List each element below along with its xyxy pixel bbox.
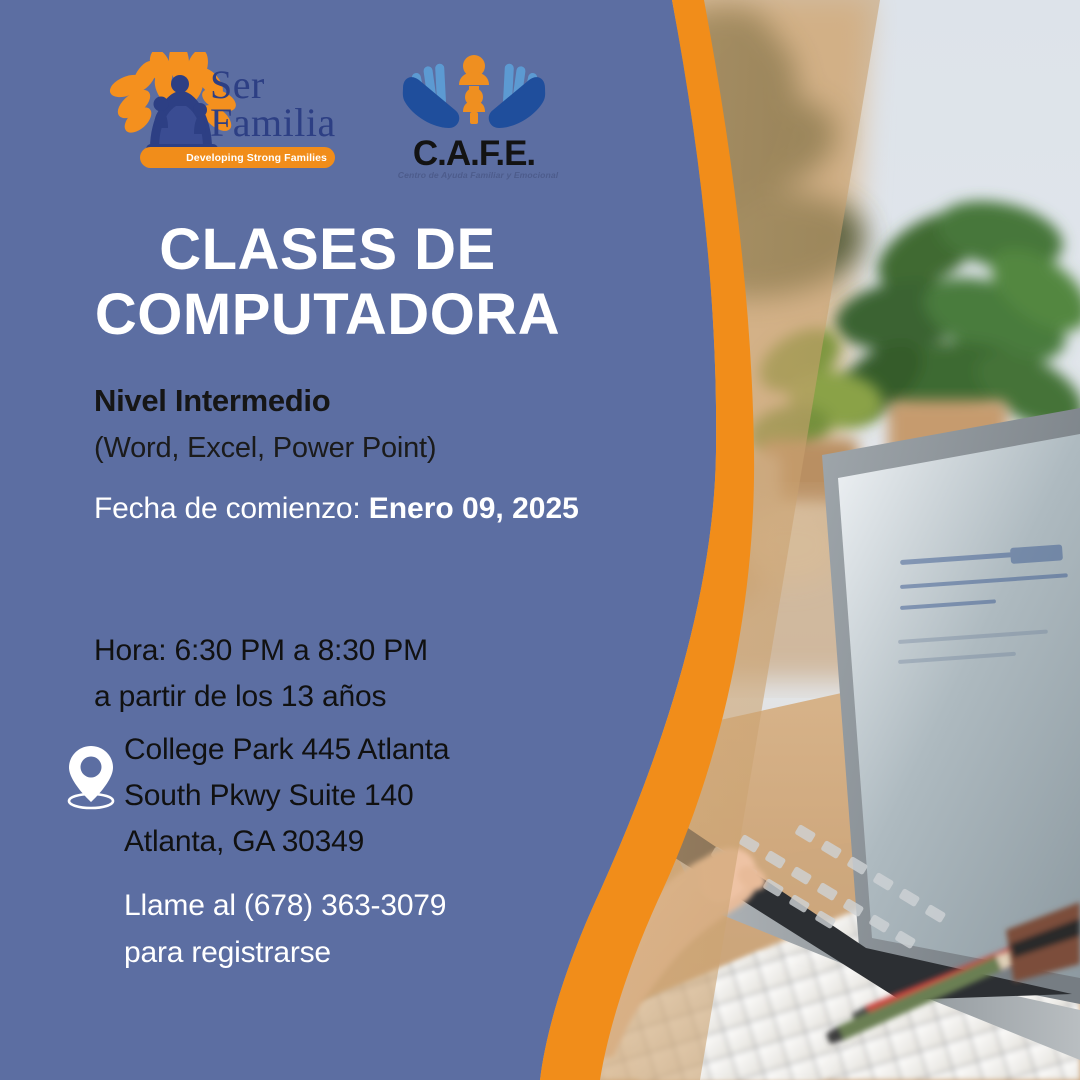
start-date-label: Fecha de comienzo: — [94, 492, 361, 525]
address-line-1: College Park 445 Atlanta — [124, 727, 449, 773]
poster-canvas: Ser Familia Developing Strong Families — [0, 0, 1080, 1080]
contact-phone: Llame al (678) 363-3079 — [124, 883, 446, 930]
address-line-2: South Pkwy Suite 140 — [124, 773, 449, 819]
address-line-3: Atlanta, GA 30349 — [124, 819, 449, 865]
headline-line-2: COMPUTADORA — [0, 283, 655, 348]
contact-block: Llame al (678) 363-3079 para registrarse — [124, 883, 446, 976]
ser-familia-logo: Ser Familia Developing Strong Families — [104, 52, 339, 172]
ser-familia-word-line1: Ser — [210, 66, 336, 104]
ser-familia-word-line2: Familia — [210, 104, 336, 142]
cafe-subtitle: Centro de Ayuda Familiar y Emocional — [389, 170, 567, 180]
ser-familia-tagline: Developing Strong Families — [140, 147, 335, 168]
age-requirement: a partir de los 13 años — [94, 674, 428, 720]
class-time: Hora: 6:30 PM a 8:30 PM — [94, 628, 428, 674]
hands-cradling-icon — [389, 52, 559, 134]
cafe-acronym: C.A.F.E. — [389, 134, 559, 174]
start-date-line: Fecha de comienzo: Enero 09, 2025 — [94, 492, 579, 526]
schedule-block: Hora: 6:30 PM a 8:30 PM a partir de los … — [94, 628, 428, 719]
course-level: Nivel Intermedio — [94, 383, 330, 419]
ser-familia-wordmark: Ser Familia — [210, 66, 336, 143]
page-title: CLASES DE COMPUTADORA — [0, 218, 655, 348]
map-pin-icon — [60, 742, 122, 810]
cafe-logo: C.A.F.E. Centro de Ayuda Familiar y Emoc… — [389, 52, 559, 187]
headline-line-1: CLASES DE — [0, 218, 655, 283]
course-apps: (Word, Excel, Power Point) — [94, 432, 436, 465]
start-date-value: Enero 09, 2025 — [369, 492, 579, 525]
contact-action: para registrarse — [124, 930, 446, 977]
content-column: Ser Familia Developing Strong Families — [0, 0, 700, 1080]
address-block: College Park 445 Atlanta South Pkwy Suit… — [124, 727, 449, 866]
logo-row: Ser Familia Developing Strong Families — [104, 52, 574, 187]
